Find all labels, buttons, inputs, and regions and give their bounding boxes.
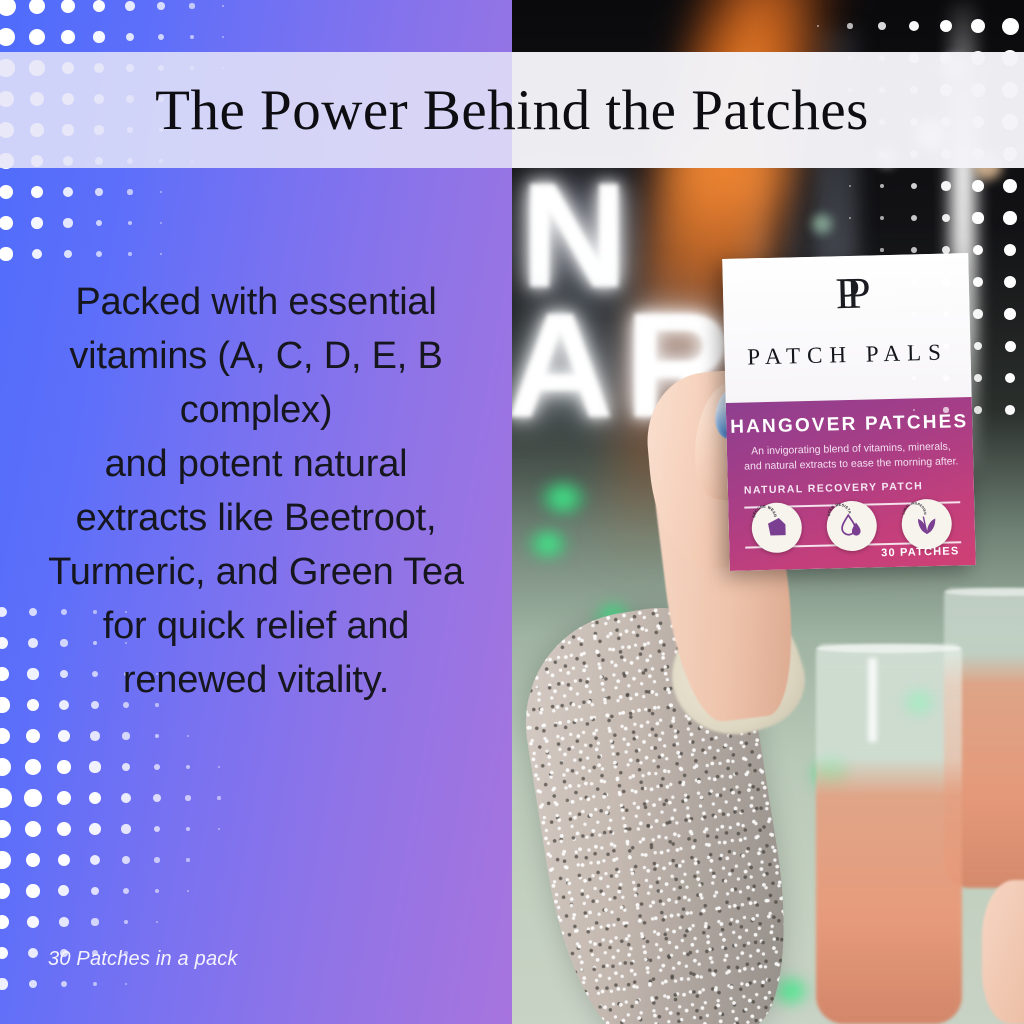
champagne-glass-left <box>816 644 962 1024</box>
page-title: The Power Behind the Patches <box>0 52 1024 168</box>
body-copy: Packed with essential vitamins (A, C, D,… <box>36 276 476 708</box>
product-package: PP PATCH PALS HANGOVER PATCHES An invigo… <box>722 253 976 571</box>
footnote: 30 Patches in a pack <box>48 948 238 971</box>
svg-text:NATURAL INGREDIENTS: NATURAL INGREDIENTS <box>901 499 927 516</box>
package-count: 30 PATCHES <box>881 545 960 559</box>
badge-curved-label: NATURAL INGREDIENTS <box>901 499 928 526</box>
bokeh-highlight <box>812 214 832 234</box>
svg-text:SECURE WEAR: SECURE WEAR <box>751 504 776 518</box>
badge-label-secure-wear: SECURE WEAR <box>751 504 776 518</box>
svg-text:WATER RESISTANT: WATER RESISTANT <box>826 501 852 516</box>
badge-water-resistant: WATER RESISTANT <box>826 500 877 551</box>
badge-secure-wear: SECURE WEAR <box>751 502 802 553</box>
brand-monogram-icon: PP <box>723 269 970 319</box>
badge-curved-label: WATER RESISTANT <box>826 501 853 528</box>
badge-natural-ingredients: NATURAL INGREDIENTS <box>901 499 952 550</box>
promo-poster: N AR <box>0 0 1024 1024</box>
feature-badges: SECURE WEAR WATER RESISTANT <box>738 503 965 549</box>
package-description: An invigorating blend of vitamins, miner… <box>741 439 962 475</box>
badge-label-water-resistant: WATER RESISTANT <box>826 501 852 516</box>
badge-label-natural-ingredients: NATURAL INGREDIENTS <box>901 499 927 516</box>
hand-holding-glass <box>982 880 1024 1024</box>
disco-light-spot <box>528 530 568 558</box>
disco-light-spot <box>540 482 586 514</box>
badge-curved-label: SECURE WEAR <box>751 503 778 530</box>
